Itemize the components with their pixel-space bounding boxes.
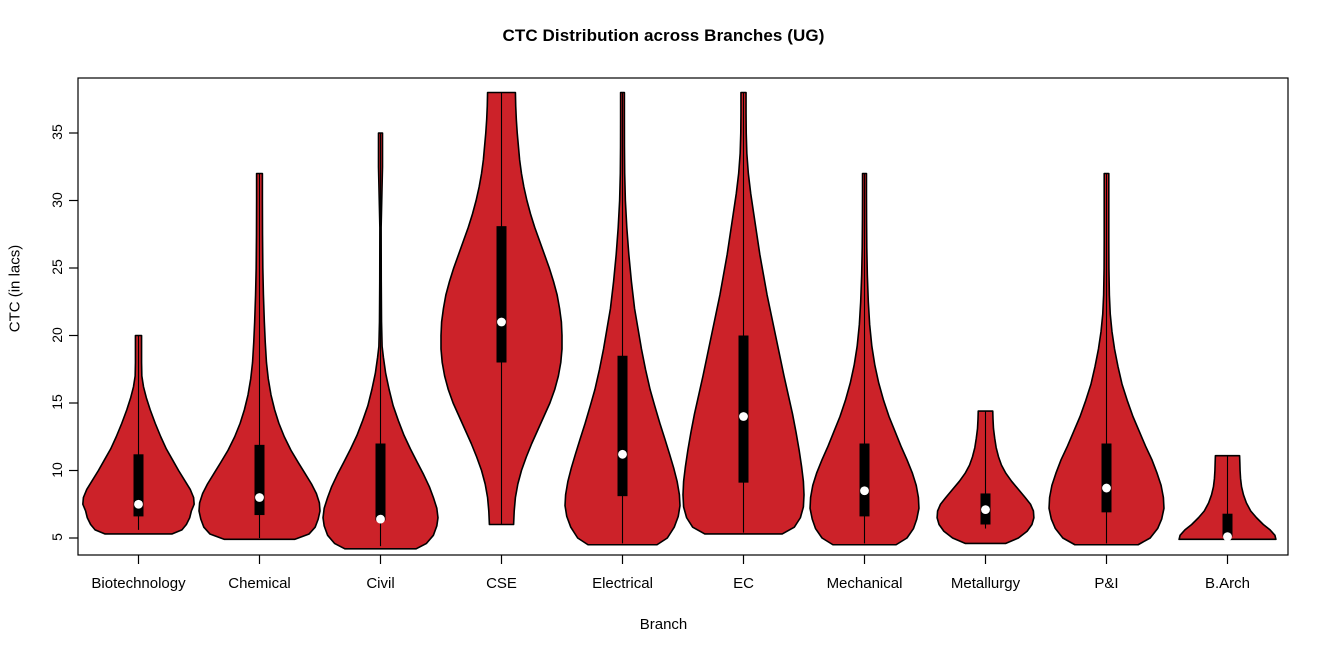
violin-b-arch xyxy=(1179,456,1276,541)
x-tick-label: Biotechnology xyxy=(91,575,185,592)
violin-metallurgy xyxy=(937,411,1034,543)
violin-iqr-box xyxy=(618,356,628,496)
x-tick-label: Chemical xyxy=(228,575,291,592)
y-tick-label: 20 xyxy=(49,315,65,355)
y-tick-label: 5 xyxy=(49,517,65,557)
x-tick-label: B.Arch xyxy=(1205,575,1250,592)
plot-canvas xyxy=(0,0,1327,653)
violin-iqr-box xyxy=(497,226,507,362)
y-tick-label: 35 xyxy=(49,112,65,152)
violin-median-point xyxy=(981,505,990,514)
violin-median-point xyxy=(134,500,143,509)
violin-ec xyxy=(683,93,804,534)
violin-median-point xyxy=(860,486,869,495)
x-tick-label: Civil xyxy=(366,575,394,592)
x-tick-label: CSE xyxy=(486,575,517,592)
x-tick-label: EC xyxy=(733,575,754,592)
violin-median-point xyxy=(376,515,385,524)
violin-civil xyxy=(323,133,438,549)
y-tick-label: 25 xyxy=(49,247,65,287)
violin-biotechnology xyxy=(83,336,194,534)
violin-iqr-box xyxy=(376,444,386,521)
violin-median-point xyxy=(739,412,748,421)
violin-median-point xyxy=(618,450,627,459)
violin-median-point xyxy=(497,318,506,327)
x-tick-label: Electrical xyxy=(592,575,653,592)
violin-cse xyxy=(441,93,562,525)
violin-electrical xyxy=(565,93,680,545)
violin-iqr-box xyxy=(1102,444,1112,513)
violin-chemical xyxy=(199,174,320,540)
violin-series-group xyxy=(83,93,1276,549)
violin-median-point xyxy=(255,493,264,502)
violin-iqr-box xyxy=(255,445,265,515)
violin-median-point xyxy=(1102,484,1111,493)
y-tick-label: 15 xyxy=(49,382,65,422)
x-tick-label: Mechanical xyxy=(827,575,903,592)
x-tick-label: P&I xyxy=(1094,575,1118,592)
x-tick-label: Metallurgy xyxy=(951,575,1020,592)
y-tick-label: 10 xyxy=(49,450,65,490)
violin-iqr-box xyxy=(739,336,749,483)
y-tick-label: 30 xyxy=(49,180,65,220)
violin-iqr-box xyxy=(860,444,870,517)
violin-plot-figure: CTC Distribution across Branches (UG) CT… xyxy=(0,0,1327,653)
violin-median-point xyxy=(1223,532,1232,541)
violin-p-i xyxy=(1049,174,1164,545)
violin-mechanical xyxy=(810,174,919,545)
